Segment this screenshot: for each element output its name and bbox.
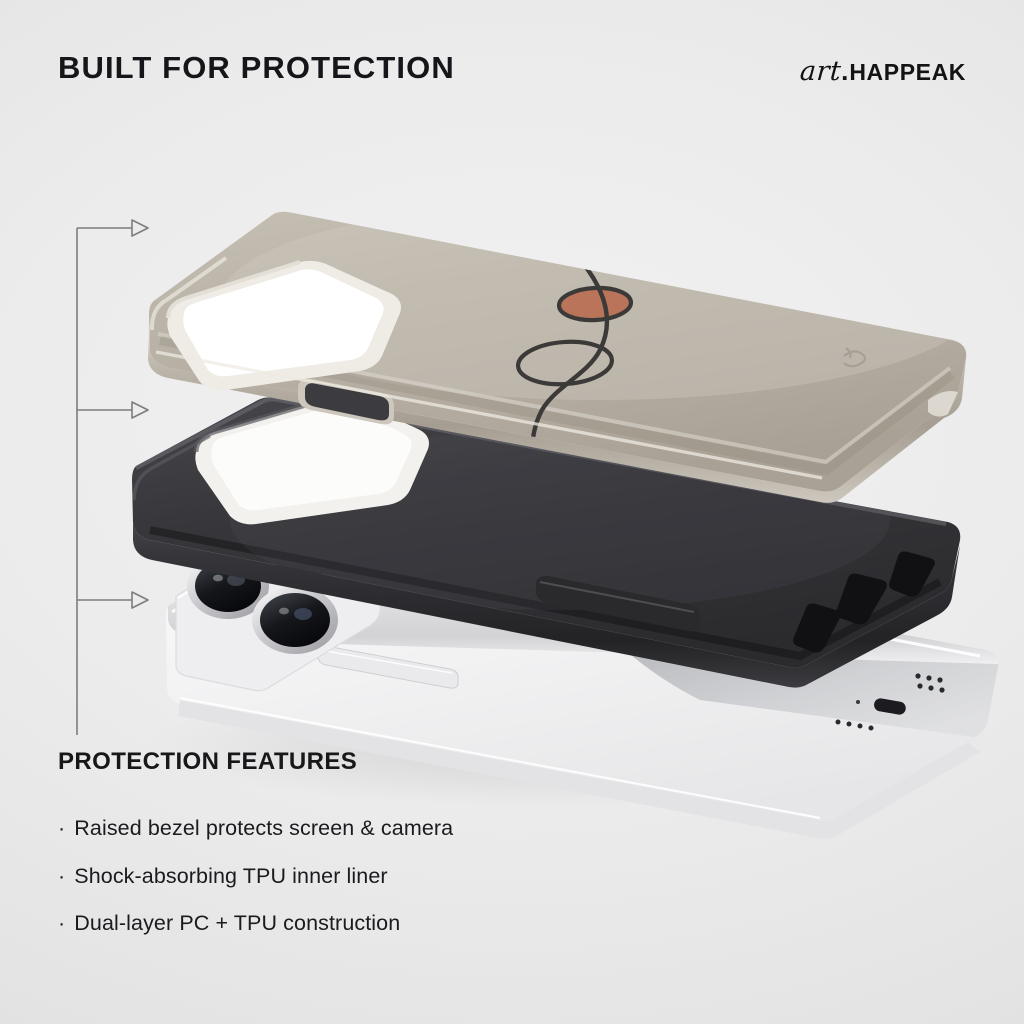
page-title: BUILT FOR PROTECTION	[58, 50, 455, 86]
feature-item-3: ·Dual-layer PC + TPU construction	[58, 913, 678, 935]
bullet-marker: ·	[58, 816, 65, 840]
brand-script-text: art	[799, 56, 843, 87]
bullet-marker: ·	[58, 911, 65, 935]
feature-item-1-label: Raised bezel protects screen & camera	[74, 816, 453, 840]
brand-bold-text: HAPPEAK	[849, 59, 966, 86]
features-heading: PROTECTION FEATURES	[58, 748, 357, 776]
features-list: ·Raised bezel protects screen & camera ·…	[58, 818, 678, 961]
feature-item-1: ·Raised bezel protects screen & camera	[58, 818, 678, 840]
microphone-hole	[856, 700, 860, 704]
camera-lens-3	[252, 586, 338, 654]
feature-item-2: ·Shock-absorbing TPU inner liner	[58, 866, 678, 888]
bullet-marker: ·	[58, 864, 65, 888]
brand-logo: art . HAPPEAK	[800, 56, 966, 87]
feature-item-2-label: Shock-absorbing TPU inner liner	[74, 864, 387, 888]
brand-dot: .	[841, 56, 848, 87]
feature-item-3-label: Dual-layer PC + TPU construction	[74, 911, 400, 935]
